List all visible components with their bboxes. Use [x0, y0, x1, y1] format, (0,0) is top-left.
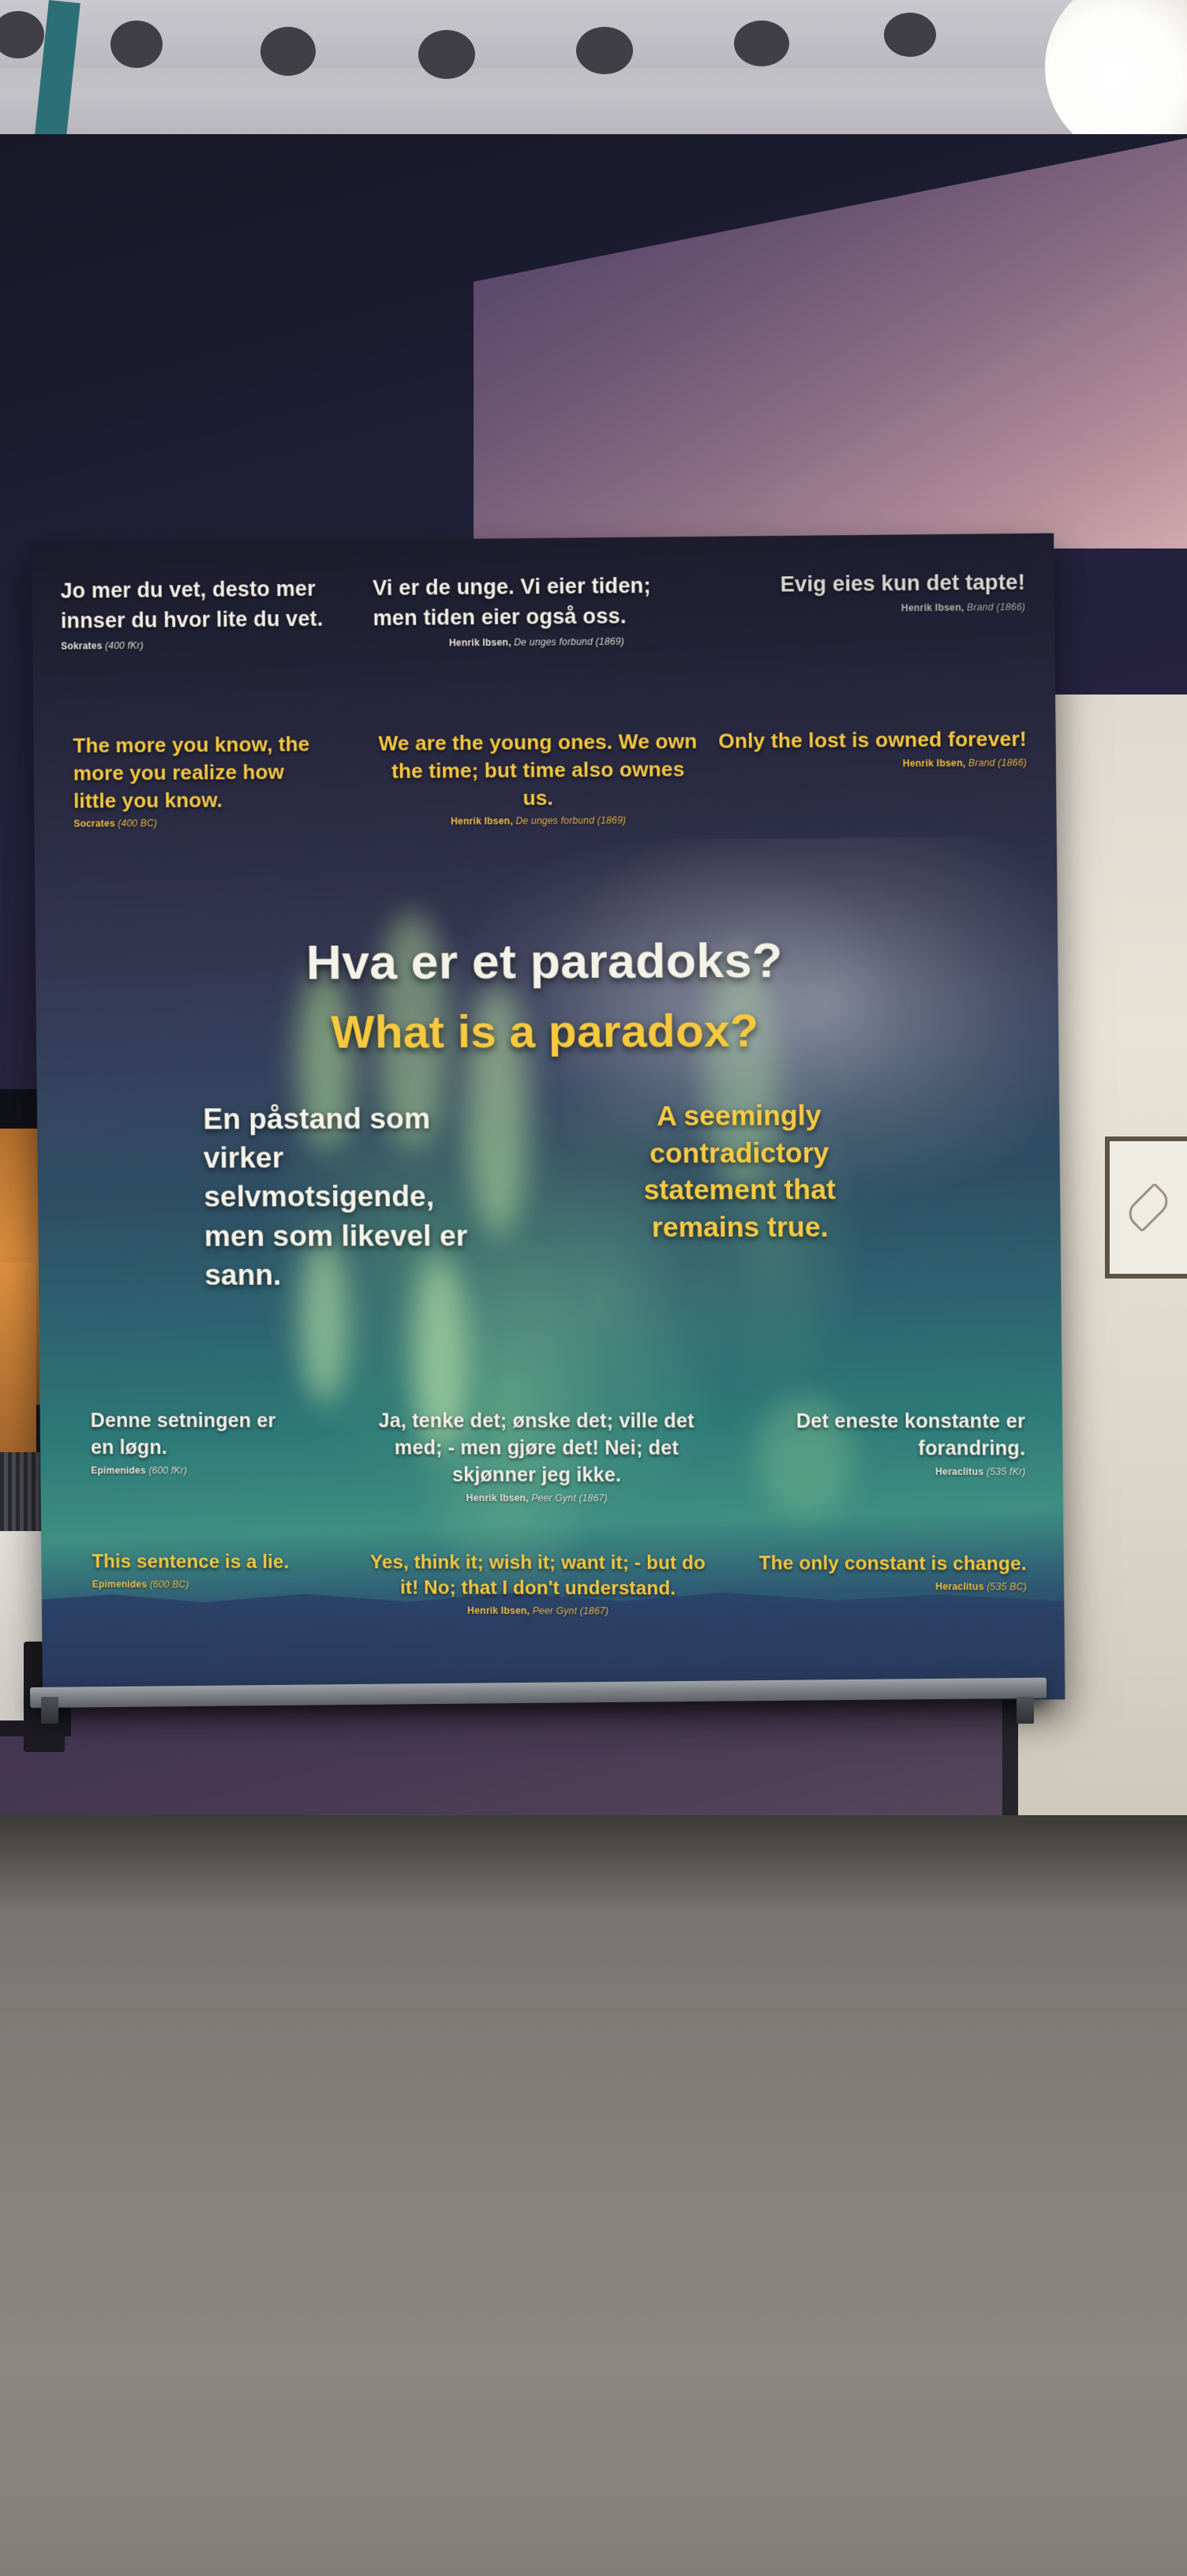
- quote-source: Peer Gynt (1867): [533, 1605, 609, 1616]
- quote-author: Heraclitus: [935, 1581, 983, 1592]
- quote-attribution: Henrik Ibsen, De unges forbund (1869): [373, 635, 701, 650]
- quote-block-no-3: Evig eies kun det tapte! Henrik Ibsen, B…: [708, 567, 1055, 647]
- poster-foot-right: [1017, 1697, 1034, 1724]
- quote-attribution: Sokrates (400 fKr): [61, 638, 358, 653]
- quote-attribution: Epimenides (600 BC): [92, 1578, 351, 1592]
- quote-author: Henrik Ibsen,: [901, 602, 964, 614]
- quote-block-en-1: The more you know, the more you realize …: [33, 730, 367, 831]
- quote-block-no-4: Denne setningen er en løgn. Epimenides (…: [40, 1407, 358, 1504]
- quote-attribution: Epimenides (600 fKr): [91, 1465, 350, 1477]
- quote-attribution: Heraclitus (535 fKr): [725, 1466, 1026, 1478]
- quote-text: Denne setningen er en løgn.: [91, 1407, 290, 1461]
- quote-author: Epimenides: [92, 1578, 148, 1589]
- ceiling-dot: [110, 21, 163, 68]
- quote-source: (600 BC): [150, 1579, 189, 1590]
- quote-block-no-5: Ja, tenke det; ønske det; ville det med;…: [357, 1407, 717, 1505]
- top-quotes-norwegian-row: Jo mer du vet, desto mer innser du hvor …: [32, 567, 1054, 653]
- quote-attribution: Henrik Ibsen, Brand (1866): [717, 601, 1026, 616]
- floor-shadow: [0, 1815, 1187, 1910]
- quote-source: Peer Gynt (1867): [531, 1492, 608, 1503]
- quote-author: Epimenides: [91, 1465, 146, 1476]
- quote-block-en-3: Only the lost is owned forever! Henrik I…: [710, 724, 1057, 826]
- quote-author: Henrik Ibsen,: [451, 816, 513, 828]
- bottom-quotes-norwegian-row: Denne setningen er en løgn. Epimenides (…: [40, 1407, 1064, 1506]
- exhibition-poster: Jo mer du vet, desto mer innser du hvor …: [32, 534, 1065, 1700]
- bottom-quotes-english-row: This sentence is a lie. Epimenides (600 …: [41, 1549, 1064, 1619]
- poster-foot-left: [41, 1697, 58, 1724]
- quote-attribution: Henrik Ibsen, Peer Gynt (1867): [365, 1492, 709, 1505]
- quote-attribution: Henrik Ibsen, Peer Gynt (1867): [366, 1605, 710, 1619]
- quote-text: Evig eies kun det tapte!: [716, 567, 1025, 600]
- definition-norwegian: En påstand som virker selvmotsigende, me…: [203, 1099, 491, 1294]
- ceiling-dot: [734, 21, 789, 66]
- quote-source: (400 BC): [118, 818, 157, 829]
- quote-text: Yes, think it; wish it; want it; - but d…: [366, 1550, 710, 1602]
- ceiling-dot: [260, 27, 316, 76]
- poster-title-norwegian: Hva er et paradoks?: [36, 931, 1058, 992]
- quote-attribution: Socrates (400 BC): [73, 817, 359, 831]
- room-scene: Jo mer du vet, desto mer innser du hvor …: [0, 0, 1187, 2576]
- quote-author: Henrik Ibsen,: [903, 758, 966, 769]
- quote-source: (535 BC): [987, 1582, 1027, 1593]
- ceiling-dot: [576, 27, 633, 74]
- quote-block-no-2: Vi er de unge. Vi eier tiden; men tiden …: [365, 570, 709, 650]
- quote-block-en-5: Yes, think it; wish it; want it; - but d…: [358, 1550, 718, 1619]
- floor: [0, 1815, 1187, 2576]
- quote-text: The more you know, the more you realize …: [73, 730, 311, 814]
- quote-text: The only constant is change.: [725, 1551, 1027, 1577]
- quote-source: Brand (1866): [967, 601, 1025, 613]
- framed-artwork: [1105, 1136, 1187, 1279]
- artwork-shape: [1123, 1182, 1174, 1233]
- ceiling-dot: [884, 13, 936, 57]
- quote-block-no-6: Det eneste konstante er forandring. Hera…: [716, 1408, 1063, 1506]
- quote-source: (400 fKr): [105, 639, 144, 650]
- quote-author: Henrik Ibsen,: [466, 1492, 529, 1503]
- quote-source: (535 fKr): [987, 1466, 1026, 1477]
- quote-author: Henrik Ibsen,: [449, 637, 511, 649]
- quote-block-en-2: We are the young ones. We own the time; …: [366, 728, 710, 829]
- quote-source: Brand (1866): [968, 757, 1027, 769]
- quote-attribution: Henrik Ibsen, Brand (1866): [717, 757, 1027, 771]
- left-orange-object-2: [0, 1263, 36, 1460]
- quote-text: Ja, tenke det; ønske det; ville det med;…: [365, 1407, 709, 1488]
- quote-attribution: Heraclitus (535 BC): [726, 1581, 1028, 1594]
- poster-texture: [32, 534, 1065, 1700]
- quote-source: De unges forbund (1869): [515, 815, 626, 827]
- quote-text: Vi er de unge. Vi eier tiden; men tiden …: [373, 570, 701, 634]
- quote-block-en-6: The only constant is change. Heraclitus …: [717, 1551, 1065, 1619]
- quote-author: Socrates: [73, 818, 114, 829]
- quote-block-no-1: Jo mer du vet, desto mer innser du hvor …: [32, 573, 365, 653]
- quote-text: Jo mer du vet, desto mer innser du hvor …: [60, 573, 357, 636]
- quote-author: Sokrates: [61, 640, 102, 651]
- quote-text: Det eneste konstante er forandring.: [724, 1408, 1025, 1462]
- quote-author: Heraclitus: [935, 1466, 983, 1477]
- top-quotes-english-row: The more you know, the more you realize …: [33, 724, 1056, 831]
- quote-block-en-4: This sentence is a lie. Epimenides (600 …: [41, 1549, 358, 1617]
- poster-title-english: What is a paradox?: [36, 1003, 1059, 1060]
- quote-source: De unges forbund (1869): [514, 635, 624, 647]
- ceiling-dot: [418, 30, 475, 79]
- quote-attribution: Henrik Ibsen, De unges forbund (1869): [375, 814, 702, 829]
- quote-text: This sentence is a lie.: [92, 1549, 350, 1575]
- quote-author: Henrik Ibsen,: [467, 1605, 530, 1616]
- quote-text: We are the young ones. We own the time; …: [374, 728, 702, 813]
- quote-text: Only the lost is owned forever!: [717, 725, 1027, 755]
- quote-source: (600 fKr): [148, 1465, 187, 1476]
- definition-english: A seemingly contradictory statement that…: [602, 1098, 876, 1246]
